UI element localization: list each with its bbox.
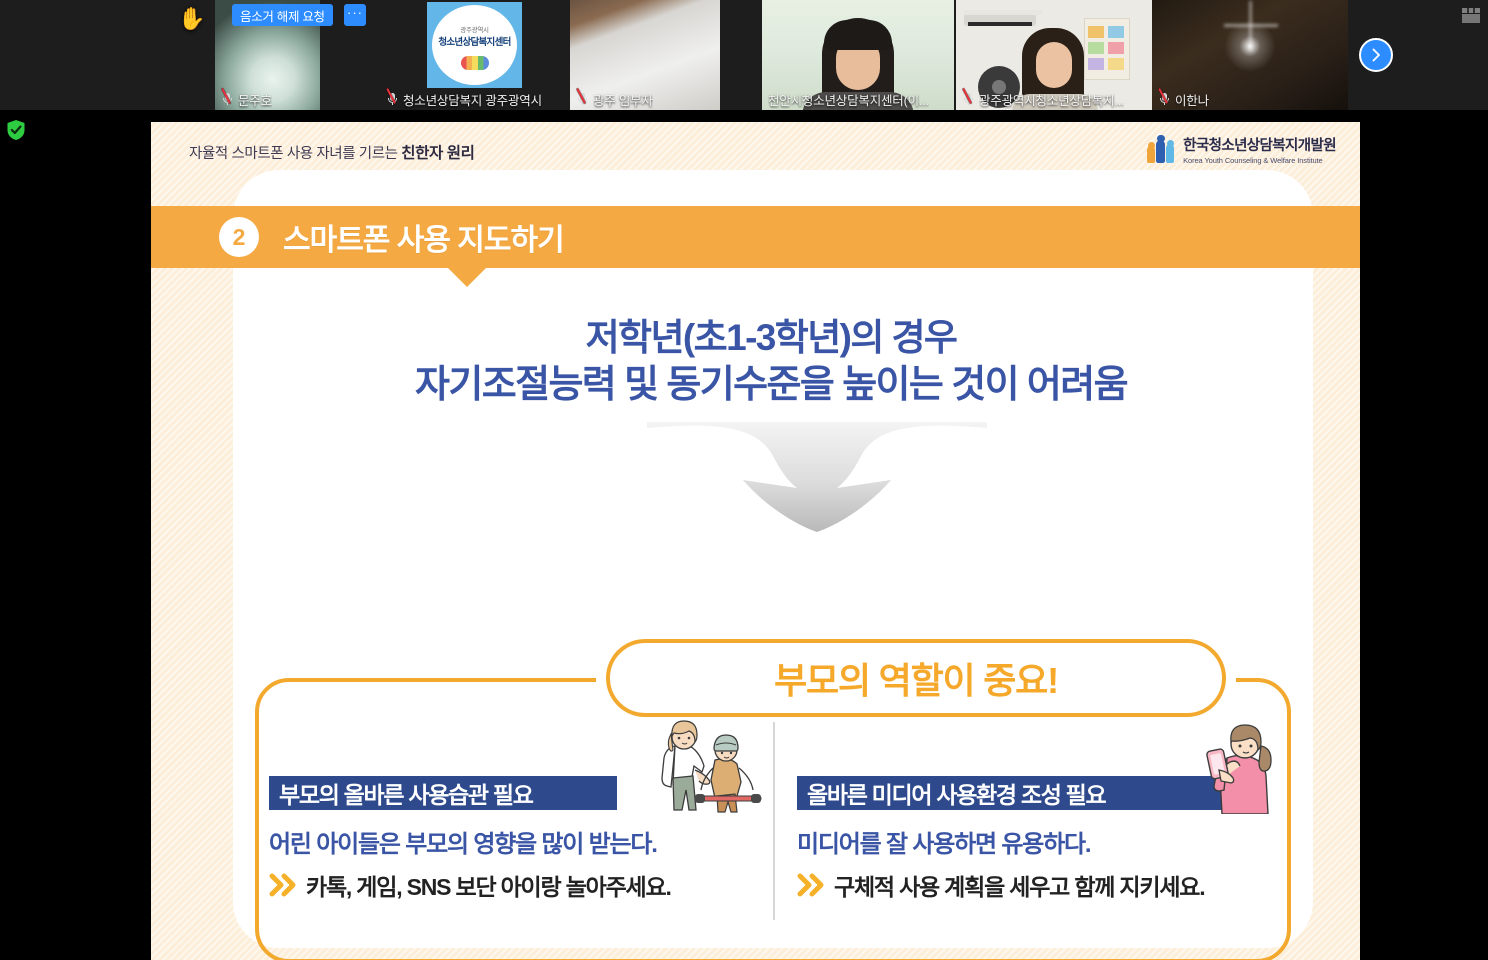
unmute-request-button[interactable]: 음소거 해제 요청 bbox=[232, 4, 333, 26]
banner-notch bbox=[448, 268, 486, 287]
chevron-right-icon bbox=[1368, 47, 1384, 63]
column-line-2: 구체적 사용 계획을 세우고 함께 지키세요. bbox=[834, 868, 1204, 902]
column-bullet-row: 구체적 사용 계획을 세우고 함께 지키세요. bbox=[797, 868, 1204, 902]
mic-off-icon bbox=[576, 92, 589, 107]
down-arrow-icon bbox=[647, 422, 987, 532]
participant-tile[interactable]: 광주광역시청소년상담복지... bbox=[956, 0, 1152, 110]
girl-holding-smartphone-illustration bbox=[1197, 718, 1289, 814]
zoom-meeting-window: 문주호 광주광역시 청소년상담복지센터 청소년상담복지 광주광역시 bbox=[0, 0, 1488, 960]
headline-line-2: 자기조절능력 및 동기수준을 높이는 것이 어려움 bbox=[271, 361, 1271, 410]
participant-tile[interactable]: 광주광역시 청소년상담복지센터 청소년상담복지 광주광역시 bbox=[380, 0, 575, 110]
mic-off-icon bbox=[962, 92, 975, 107]
mic-off-icon bbox=[1158, 92, 1171, 107]
more-options-button[interactable]: ··· bbox=[344, 4, 366, 26]
kyci-logo-mark bbox=[1146, 135, 1176, 165]
participant-name: 광주광역시청소년상담복지... bbox=[979, 90, 1124, 109]
double-chevron-right-icon bbox=[797, 873, 827, 897]
column-bullet-row: 카톡, 게임, SNS 보단 아이랑 놀아주세요. bbox=[269, 868, 671, 902]
deck-subtitle-prefix: 자율적 스마트폰 사용 자녀를 기르는 bbox=[189, 146, 401, 162]
column-heading: 부모의 올바른 사용습관 필요 bbox=[279, 776, 533, 810]
next-page-button[interactable] bbox=[1359, 38, 1393, 72]
participant-tile[interactable]: 광주 임부자 bbox=[570, 0, 720, 110]
column-heading: 올바른 미디어 사용환경 조성 필요 bbox=[807, 776, 1105, 810]
section-number-badge: 2 bbox=[219, 217, 259, 257]
shared-screen-area: 자율적 스마트폰 사용 자녀를 기르는 친한자 원리 한국청소년상담복지개발원 … bbox=[0, 110, 1488, 960]
participant-name: 이한나 bbox=[1175, 90, 1209, 109]
participant-filmstrip: 문주호 광주광역시 청소년상담복지센터 청소년상담복지 광주광역시 bbox=[0, 0, 1488, 110]
column-line-2: 카톡, 게임, SNS 보단 아이랑 놀아주세요. bbox=[306, 868, 671, 902]
column-divider bbox=[773, 722, 775, 920]
participant-tile[interactable]: 이한나 bbox=[1152, 0, 1348, 110]
participant-namebar: 청소년상담복지 광주광역시 bbox=[380, 88, 548, 110]
mic-off-icon bbox=[386, 92, 399, 107]
participant-namebar: 광주 임부자 bbox=[570, 88, 659, 110]
column-heading-band: 부모의 올바른 사용습관 필요 bbox=[269, 776, 617, 810]
participant-name: 천안시청소년상담복지센터(이... bbox=[768, 90, 929, 109]
presentation-slide: 자율적 스마트폰 사용 자녀를 기르는 친한자 원리 한국청소년상담복지개발원 … bbox=[151, 122, 1360, 960]
participant-tile[interactable]: 천안시청소년상담복지센터(이... bbox=[762, 0, 954, 110]
section-title: 스마트폰 사용 지도하기 bbox=[283, 215, 564, 259]
participant-namebar: 천안시청소년상담복지센터(이... bbox=[762, 88, 935, 110]
column-line-1: 어린 아이들은 부모의 영향을 많이 받는다. bbox=[269, 824, 657, 859]
participant-name: 광주 임부자 bbox=[593, 90, 653, 109]
participant-name: 청소년상담복지 광주광역시 bbox=[403, 90, 542, 109]
mic-off-icon bbox=[221, 92, 234, 107]
participant-namebar: 문주호 bbox=[215, 88, 278, 110]
logo-name-korean: 한국청소년상담복지개발원 bbox=[1183, 134, 1336, 155]
unmute-request-label: 음소거 해제 요청 bbox=[240, 6, 325, 25]
deck-subtitle: 자율적 스마트폰 사용 자녀를 기르는 친한자 원리 bbox=[189, 141, 474, 163]
slide-headline: 저학년(초1-3학년)의 경우 자기조절능력 및 동기수준을 높이는 것이 어려… bbox=[271, 314, 1271, 410]
highlight-pill-text: 부모의 역할이 중요! bbox=[774, 652, 1058, 704]
column-heading-band: 올바른 미디어 사용환경 조성 필요 bbox=[797, 776, 1249, 810]
column-line-1: 미디어를 잘 사용하면 유용하다. bbox=[797, 824, 1090, 859]
raised-hand-icon: ✋ bbox=[178, 8, 205, 30]
headline-line-1: 저학년(초1-3학년)의 경우 bbox=[586, 317, 957, 358]
deck-subtitle-strong: 친한자 원리 bbox=[401, 145, 474, 162]
parent-teaching-child-bike-illustration bbox=[637, 718, 767, 814]
participant-namebar: 이한나 bbox=[1152, 88, 1215, 110]
shield-check-icon[interactable] bbox=[6, 119, 26, 141]
participant-namebar: 광주광역시청소년상담복지... bbox=[956, 88, 1130, 110]
organization-logo: 한국청소년상담복지개발원 Korea Youth Counseling & We… bbox=[1146, 134, 1336, 165]
section-banner: 2 스마트폰 사용 지도하기 bbox=[151, 206, 1360, 268]
view-layout-icon[interactable] bbox=[1462, 8, 1480, 24]
logo-name-english: Korea Youth Counseling & Welfare Institu… bbox=[1183, 156, 1336, 165]
participant-name: 문주호 bbox=[238, 90, 272, 109]
highlight-pill: 부모의 역할이 중요! bbox=[606, 639, 1226, 717]
more-options-label: ··· bbox=[347, 5, 363, 20]
double-chevron-right-icon bbox=[269, 873, 299, 897]
